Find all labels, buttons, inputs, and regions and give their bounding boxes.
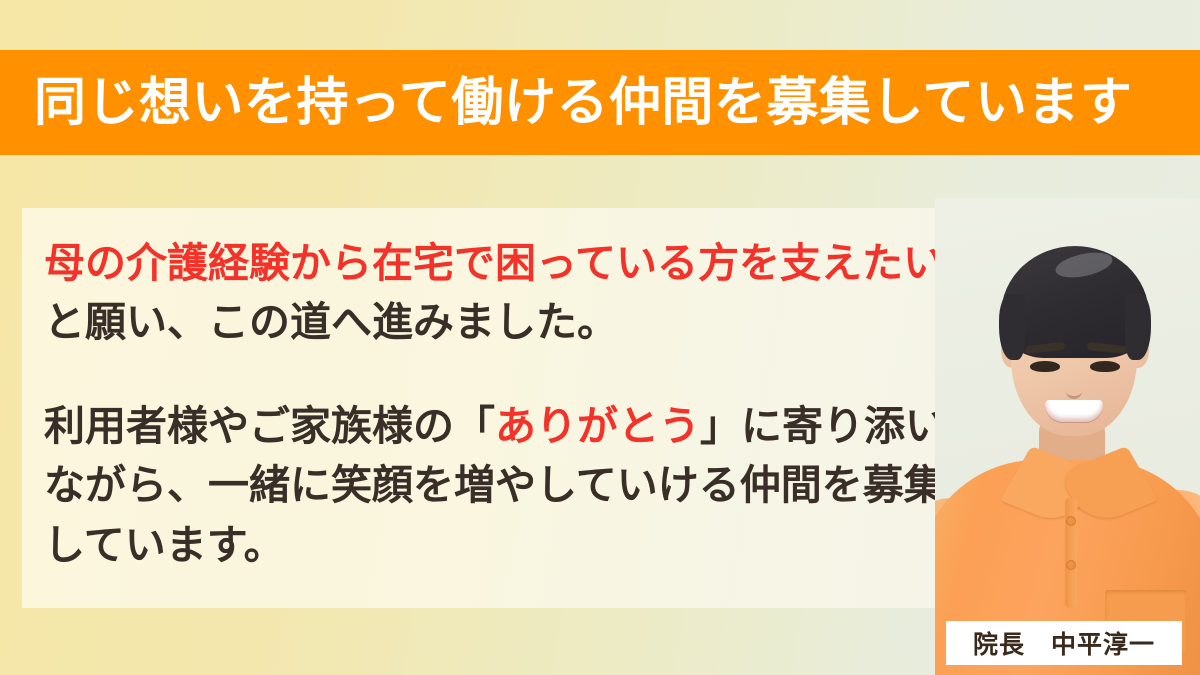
paragraph-1-highlight: 母の介護経験から在宅で困っている方を支えたい bbox=[44, 239, 944, 287]
portrait-hair-side-right bbox=[1125, 294, 1151, 360]
portrait-nose bbox=[1066, 376, 1082, 399]
paragraph-1-rest: と願い、この道へ進みました。 bbox=[44, 298, 618, 346]
portrait-eye-left bbox=[1030, 361, 1060, 372]
recruitment-slide: 同じ想いを持って働ける仲間を募集しています 母の介護経験から在宅で困っている方を… bbox=[0, 0, 1200, 675]
header-band: 同じ想いを持って働ける仲間を募集しています bbox=[0, 50, 1200, 155]
portrait-smile bbox=[1045, 400, 1103, 422]
name-badge: 院長 中平淳一 bbox=[946, 621, 1182, 665]
portrait-shirt-button-top bbox=[1066, 516, 1076, 526]
name-badge-label: 院長 中平淳一 bbox=[973, 625, 1155, 661]
portrait-shirt-button-bottom bbox=[1066, 560, 1076, 570]
paragraph-2-highlight: ありがとう bbox=[495, 402, 700, 450]
portrait-eye-right bbox=[1090, 361, 1120, 372]
message-paragraph-2: 利用者様やご家族様の「ありがとう」に寄り添いながら、一緒に笑顔を増やしていける仲… bbox=[44, 397, 977, 575]
portrait-hair-side-left bbox=[999, 294, 1025, 360]
director-portrait-photo bbox=[935, 198, 1200, 675]
message-paragraph-1: 母の介護経験から在宅で困っている方を支えたいと願い、この道へ進みました。 bbox=[44, 234, 977, 353]
portrait-placket bbox=[1065, 498, 1077, 608]
paragraph-2-lead: 利用者様やご家族様の「 bbox=[44, 402, 495, 450]
page-title: 同じ想いを持って働ける仲間を募集しています bbox=[34, 77, 1132, 129]
message-panel: 母の介護経験から在宅で困っている方を支えたいと願い、この道へ進みました。 利用者… bbox=[22, 208, 997, 608]
